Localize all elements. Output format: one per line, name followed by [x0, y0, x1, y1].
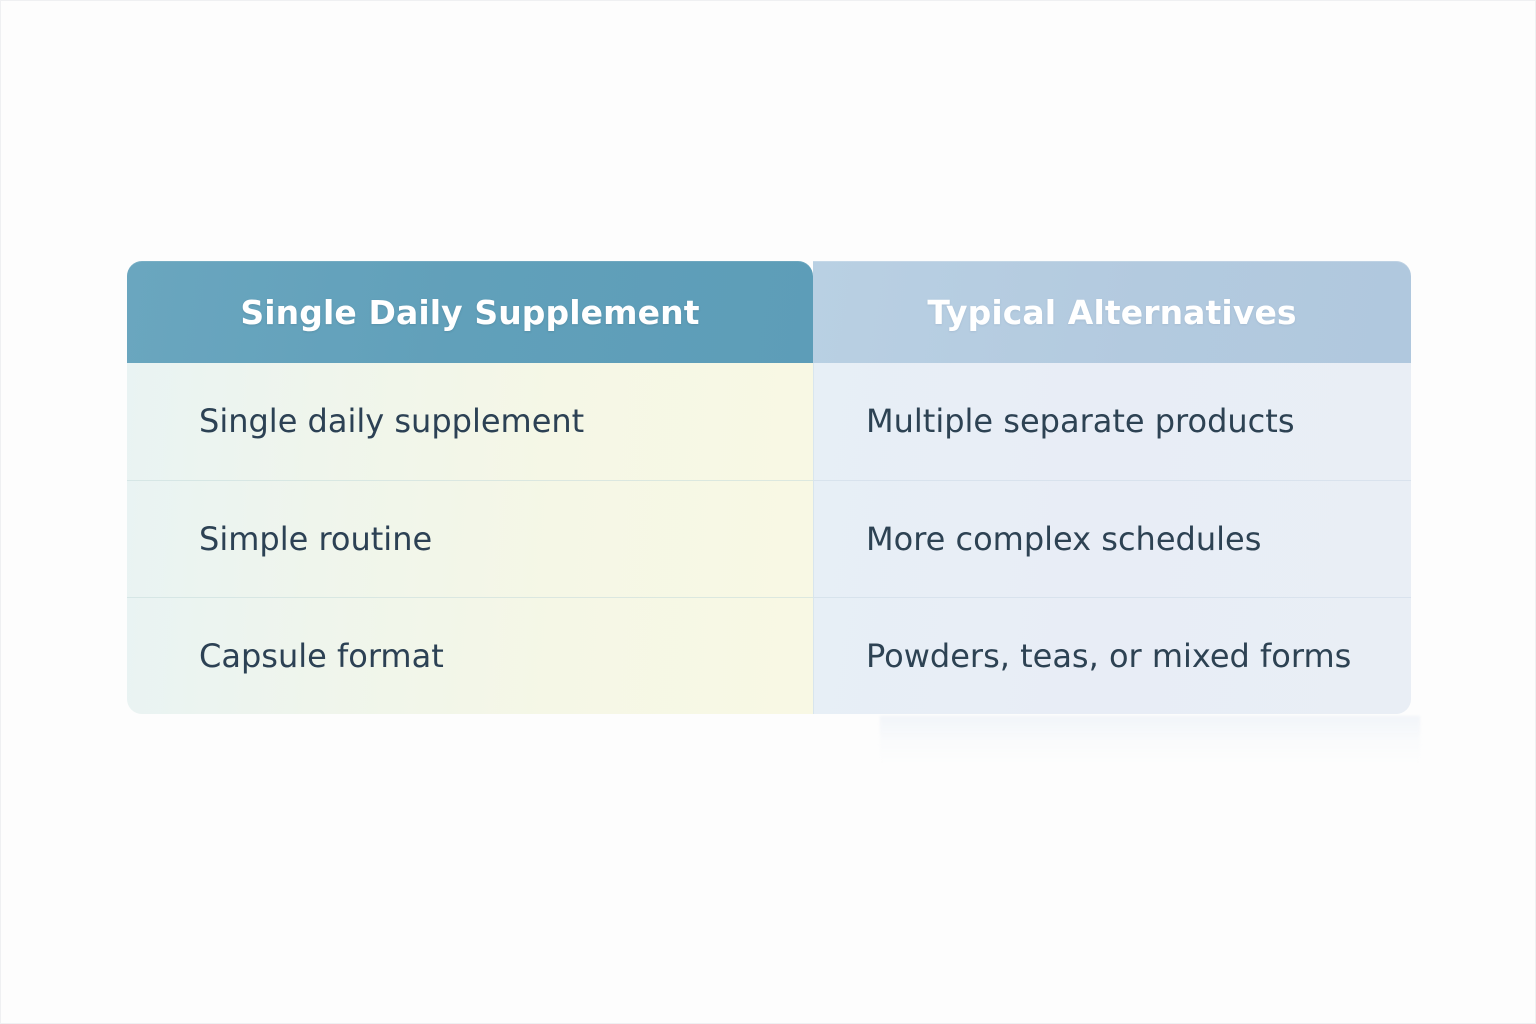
column-header-label-right: Typical Alternatives [927, 296, 1296, 329]
cell-content-left: Simple routine [127, 480, 813, 597]
column-header-typical-alternatives: Typical Alternatives [813, 261, 1411, 363]
table-row: Capsule format Powders, teas, or mixed f… [127, 597, 1411, 714]
cell-label: Multiple separate products [866, 403, 1294, 440]
table-cell-right: More complex schedules [813, 480, 1411, 597]
column-header-single-daily-supplement: Single Daily Supplement [127, 261, 813, 363]
page-canvas: Single Daily Supplement Typical Alternat… [0, 0, 1536, 1024]
comparison-table: Single Daily Supplement Typical Alternat… [127, 261, 1411, 714]
table-row: Simple routine More complex schedules [127, 480, 1411, 597]
cell-label: Capsule format [199, 638, 444, 675]
cell-label: More complex schedules [866, 521, 1261, 558]
table-cell-left: Simple routine [127, 480, 813, 597]
cell-content-left: Single daily supplement [127, 363, 813, 480]
cell-content-right: More complex schedules [813, 480, 1411, 597]
cell-content-right: Powders, teas, or mixed forms [813, 597, 1411, 714]
background-artifact [880, 716, 1420, 762]
table-header-row: Single Daily Supplement Typical Alternat… [127, 261, 1411, 363]
table-row: Single daily supplement Multiple separat… [127, 363, 1411, 480]
header-cell-right: Typical Alternatives [813, 261, 1411, 363]
cell-label: Single daily supplement [199, 403, 584, 440]
cell-label: Simple routine [199, 521, 432, 558]
column-header-label-left: Single Daily Supplement [240, 296, 699, 329]
cell-content-left: Capsule format [127, 597, 813, 714]
cell-label: Powders, teas, or mixed forms [866, 638, 1351, 675]
cell-content-right: Multiple separate products [813, 363, 1411, 480]
header-cell-left: Single Daily Supplement [127, 261, 813, 363]
comparison-table-container: Single Daily Supplement Typical Alternat… [127, 261, 1411, 713]
table-cell-left: Single daily supplement [127, 363, 813, 480]
table-cell-right: Powders, teas, or mixed forms [813, 597, 1411, 714]
table-body: Single daily supplement Multiple separat… [127, 363, 1411, 714]
table-cell-left: Capsule format [127, 597, 813, 714]
table-cell-right: Multiple separate products [813, 363, 1411, 480]
table-header: Single Daily Supplement Typical Alternat… [127, 261, 1411, 363]
